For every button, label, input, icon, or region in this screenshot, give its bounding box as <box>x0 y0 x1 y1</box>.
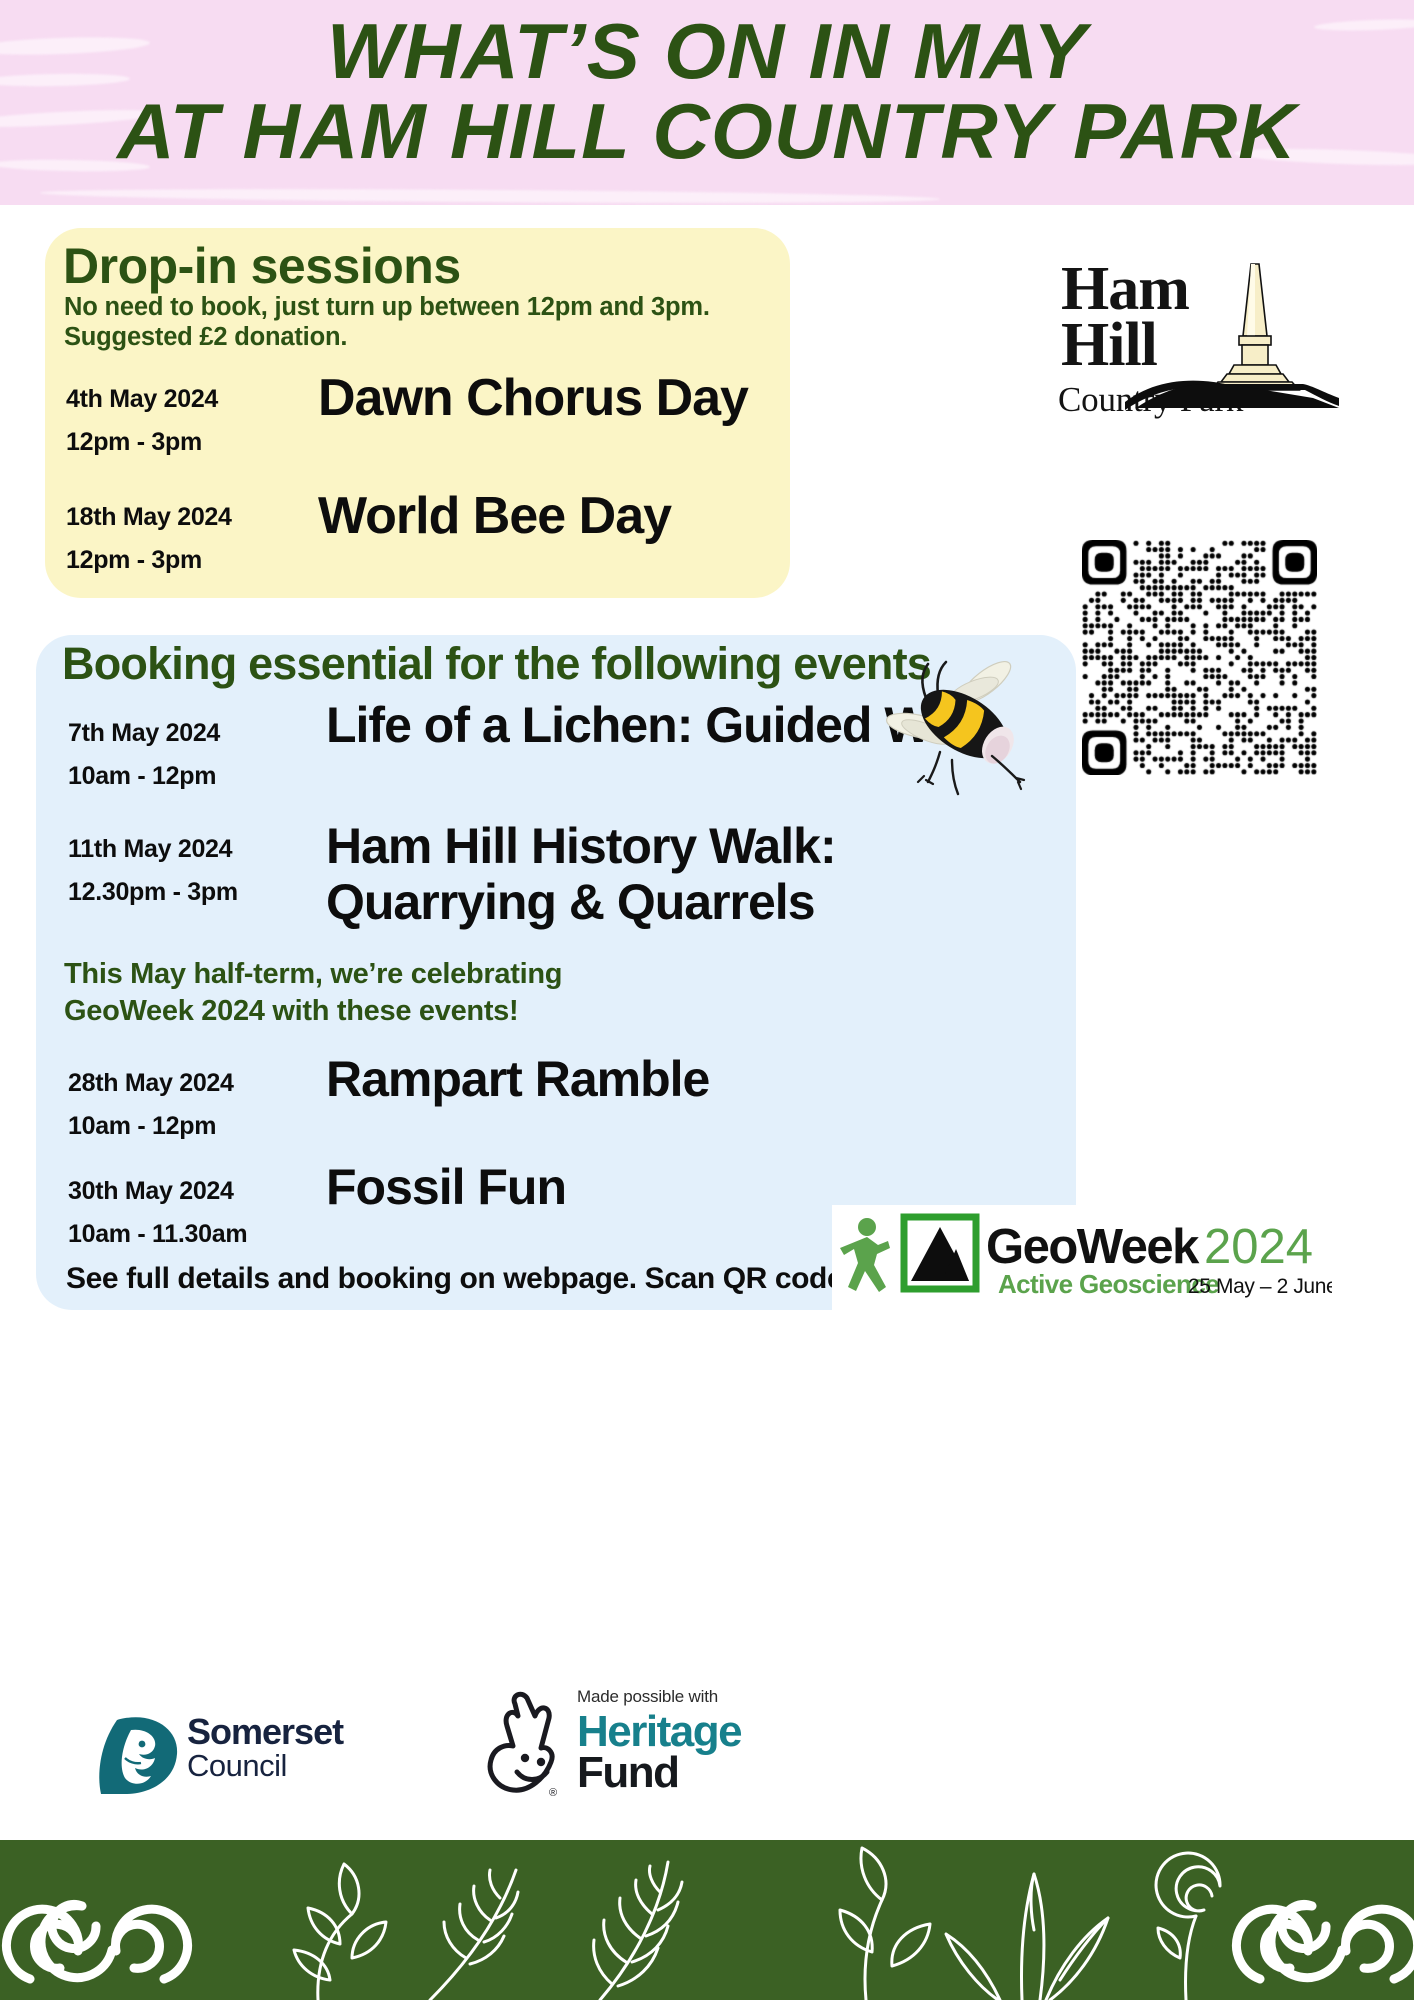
drop-in-title: Drop-in sessions <box>63 237 461 295</box>
heritage-name: Heritage <box>577 1711 741 1753</box>
triskelion-spiral-icon <box>1236 1904 1414 1979</box>
event-date: 30th May 2024 <box>68 1170 247 1213</box>
event-when: 4th May 2024 12pm - 3pm <box>66 378 218 464</box>
geoweek-dates: 25 May – 2 June <box>1188 1275 1332 1298</box>
event-name: Fossil Fun <box>326 1162 566 1213</box>
event-name: Ham Hill History Walk: Quarrying & Quarr… <box>326 818 1086 930</box>
svg-text:®: ® <box>549 1787 557 1799</box>
event-date: 7th May 2024 <box>68 712 220 755</box>
event-when: 11th May 2024 12.30pm - 3pm <box>68 828 238 914</box>
event-when: 30th May 2024 10am - 11.30am <box>68 1170 247 1256</box>
booking-title: Booking essential for the following even… <box>62 638 931 690</box>
botanical-footer <box>0 1840 1414 2000</box>
event-time: 10am - 12pm <box>68 755 220 798</box>
event-name-line-1: Ham Hill History Walk: <box>326 818 1086 874</box>
event-time: 10am - 11.30am <box>68 1213 247 1256</box>
somerset-name: Somerset <box>187 1714 343 1750</box>
page-title: WHAT’S ON IN MAY AT HAM HILL COUNTRY PAR… <box>0 14 1414 168</box>
obelisk-monument-icon <box>1055 258 1345 418</box>
booking-footnote: See full details and booking on webpage.… <box>66 1262 851 1296</box>
geoweek-note: This May half-term, we’re celebrating Ge… <box>64 956 562 1030</box>
geoweek-name: GeoWeek <box>986 1220 1200 1274</box>
drop-in-subtitle-line-2: Suggested £2 donation. <box>64 322 710 352</box>
heritage-fund-logo: ® Made possible with Heritage Fund <box>485 1688 805 1803</box>
event-name-line-2: Quarrying & Quarrels <box>326 874 1086 930</box>
fiddlehead-fern-icon <box>1156 1853 1220 2000</box>
leaf-sprig-icon <box>294 1864 386 2000</box>
geoweek-year: 2024 <box>1204 1220 1313 1274</box>
grass-blade-icon <box>946 1874 1108 2000</box>
event-date: 4th May 2024 <box>66 378 218 421</box>
event-name: World Bee Day <box>318 490 671 543</box>
event-when: 7th May 2024 10am - 12pm <box>68 712 220 798</box>
title-line-2: AT HAM HILL COUNTRY PARK <box>0 94 1414 168</box>
event-date: 11th May 2024 <box>68 828 238 871</box>
geoweek-logo: GeoWeek 2024 Active Geoscience 25 May – … <box>832 1205 1332 1310</box>
drop-in-subtitle: No need to book, just turn up between 12… <box>64 292 710 352</box>
event-time: 10am - 12pm <box>68 1105 234 1148</box>
event-name: Dawn Chorus Day <box>318 372 748 425</box>
leaf-sprig-icon <box>840 1848 930 2000</box>
geoweek-note-line-2: GeoWeek 2024 with these events! <box>64 993 562 1030</box>
event-when: 18th May 2024 12pm - 3pm <box>66 496 232 582</box>
mountain-square-icon <box>904 1217 976 1289</box>
qr-code-icon[interactable] <box>1082 540 1317 775</box>
event-time: 12.30pm - 3pm <box>68 871 238 914</box>
somerset-council-logo: Somerset Council <box>95 1710 385 1800</box>
geoweek-note-line-1: This May half-term, we’re celebrating <box>64 956 562 993</box>
triskelion-spiral-icon <box>6 1904 187 1979</box>
bumblebee-icon <box>880 640 1045 800</box>
geoweek-tagline: Active Geoscience <box>998 1269 1219 1299</box>
event-date: 28th May 2024 <box>68 1062 234 1105</box>
event-when: 28th May 2024 10am - 12pm <box>68 1062 234 1148</box>
ham-hill-logo: Ham Hill Country Park <box>1055 258 1345 418</box>
lottery-crossed-fingers-icon: ® <box>485 1690 569 1802</box>
event-time: 12pm - 3pm <box>66 539 232 582</box>
brush-stroke <box>40 187 940 205</box>
somerset-sub: Council <box>187 1750 343 1783</box>
walking-person-icon <box>840 1218 890 1292</box>
drop-in-subtitle-line-1: No need to book, just turn up between 12… <box>64 292 710 322</box>
heritage-made-possible: Made possible with <box>577 1688 741 1707</box>
poster-root: WHAT’S ON IN MAY AT HAM HILL COUNTRY PAR… <box>0 0 1414 2000</box>
heritage-sub: Fund <box>577 1752 741 1794</box>
event-time: 12pm - 3pm <box>66 421 218 464</box>
fern-leaf-icon <box>430 1870 518 2000</box>
fern-leaf-icon <box>594 1862 682 2000</box>
somerset-dragon-icon <box>95 1714 181 1796</box>
event-name: Rampart Ramble <box>326 1054 709 1105</box>
title-line-1: WHAT’S ON IN MAY <box>0 14 1414 88</box>
event-date: 18th May 2024 <box>66 496 232 539</box>
